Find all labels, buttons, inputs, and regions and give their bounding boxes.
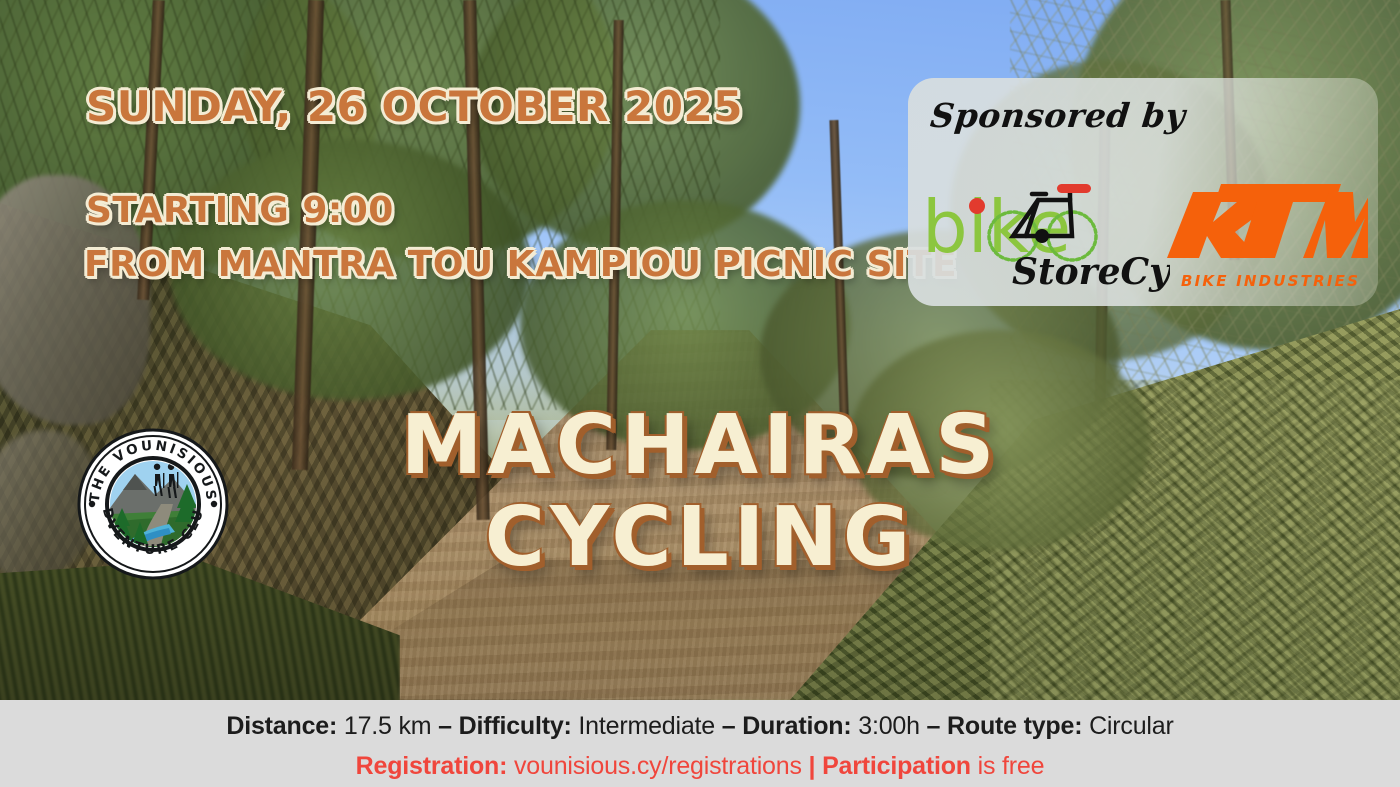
route-type-value: Circular: [1082, 712, 1173, 740]
distance-value: 17.5 km: [337, 712, 431, 740]
duration-value: 3:00h: [852, 712, 920, 740]
event-poster: SUNDAY, 26 OCTOBER 2025 STARTING 9:00 FR…: [0, 0, 1400, 787]
participation-label: Participation: [822, 752, 971, 780]
ktm-submark-text: BIKE INDUSTRIES: [1181, 272, 1360, 290]
ktm-logo-icon: [1167, 184, 1368, 258]
separator: –: [715, 712, 742, 740]
sponsor-logo-bikestorecy[interactable]: bike: [920, 168, 1170, 293]
info-bar-row-stats: Distance: 17.5 km – Difficulty: Intermed…: [0, 700, 1400, 742]
info-bar-row-registration: Registration: vounisious.cy/registration…: [0, 742, 1400, 782]
bicycle-crank-icon: [1035, 229, 1049, 243]
route-type-label: Route type:: [947, 712, 1082, 740]
info-bar: Distance: 17.5 km – Difficulty: Intermed…: [0, 700, 1400, 787]
separator: –: [920, 712, 947, 740]
registration-url[interactable]: vounisious.cy/registrations: [507, 752, 808, 780]
difficulty-label: Difficulty:: [459, 712, 572, 740]
registration-label: Registration:: [356, 752, 508, 780]
letter-i-dot-icon: [969, 198, 985, 214]
bikestore-submark-text: StoreCy: [1012, 251, 1170, 293]
bicycle-saddle-icon: [1057, 184, 1091, 193]
participation-value: is free: [971, 752, 1044, 780]
duration-label: Duration:: [742, 712, 851, 740]
distance-label: Distance:: [226, 712, 337, 740]
difficulty-value: Intermediate: [572, 712, 715, 740]
separator: –: [431, 712, 458, 740]
sponsor-logo-list: bike: [908, 166, 1378, 296]
sponsor-logo-ktm[interactable]: BIKE INDUSTRIES: [1163, 174, 1368, 292]
sponsor-panel: Sponsored by bike: [908, 78, 1378, 306]
sponsored-by-heading: Sponsored by: [908, 96, 1210, 135]
registration-divider: |: [809, 752, 823, 780]
event-start-place: FROM MANTRA TOU KAMPIOU PICNIC SITE: [84, 244, 957, 285]
event-start-time: STARTING 9:00: [86, 190, 394, 231]
event-date: SUNDAY, 26 OCTOBER 2025: [86, 82, 743, 131]
club-logo-badge: THE VOUNISIOUS ADVENTURE CLUB: [77, 428, 229, 580]
